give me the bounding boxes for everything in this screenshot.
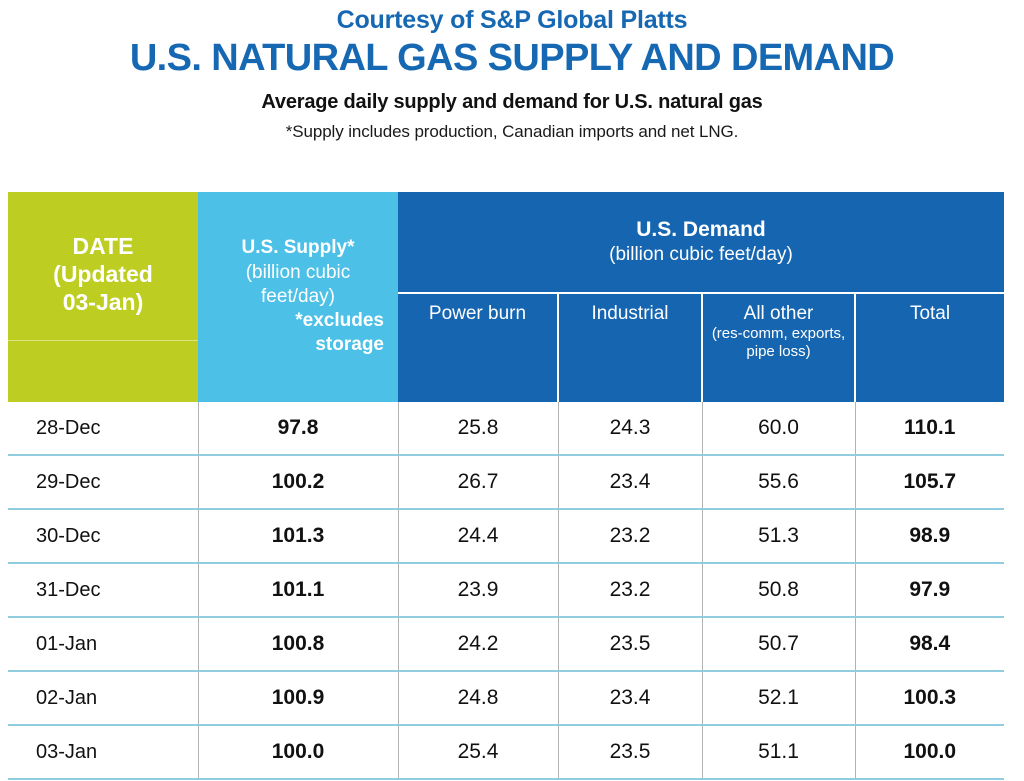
cell-supply: 101.1 [198, 563, 398, 617]
cell-all-other: 52.1 [702, 671, 855, 725]
supply-demand-table: DATE (Updated 03-Jan) U.S. Supply* (bill… [8, 192, 1004, 780]
cell-industrial: 24.3 [558, 402, 702, 455]
date-header-line1: DATE [8, 232, 198, 260]
cell-supply: 100.9 [198, 671, 398, 725]
column-header-total: Total [855, 293, 1004, 402]
cell-all-other: 60.0 [702, 402, 855, 455]
demand-header-line1: U.S. Demand [398, 216, 1004, 243]
date-header-merge-divider [8, 340, 198, 341]
cell-date: 01-Jan [8, 617, 198, 671]
supply-footnote: *Supply includes production, Canadian im… [0, 122, 1024, 142]
cell-power-burn: 24.2 [398, 617, 558, 671]
cell-industrial: 23.2 [558, 563, 702, 617]
cell-power-burn: 23.9 [398, 563, 558, 617]
cell-supply: 101.3 [198, 509, 398, 563]
cell-supply: 100.2 [198, 455, 398, 509]
cell-date: 31-Dec [8, 563, 198, 617]
cell-power-burn: 24.8 [398, 671, 558, 725]
table-row: 01-Jan100.824.223.550.798.4 [8, 617, 1004, 671]
table-row: 29-Dec100.226.723.455.6105.7 [8, 455, 1004, 509]
column-header-supply: U.S. Supply* (billion cubic feet/day) *e… [198, 192, 398, 402]
date-header-line3: 03-Jan) [8, 288, 198, 316]
cell-supply: 100.0 [198, 725, 398, 779]
cell-all-other: 50.7 [702, 617, 855, 671]
cell-power-burn: 25.8 [398, 402, 558, 455]
table-row: 02-Jan100.924.823.452.1100.3 [8, 671, 1004, 725]
cell-total: 98.9 [855, 509, 1004, 563]
table-row: 03-Jan100.025.423.551.1100.0 [8, 725, 1004, 779]
cell-date: 02-Jan [8, 671, 198, 725]
cell-all-other: 55.6 [702, 455, 855, 509]
cell-date: 28-Dec [8, 402, 198, 455]
cell-date: 30-Dec [8, 509, 198, 563]
column-header-power-burn: Power burn [398, 293, 558, 402]
all-other-detail: (res-comm, exports, pipe loss) [703, 325, 854, 360]
date-header-line2: (Updated [8, 260, 198, 288]
cell-industrial: 23.2 [558, 509, 702, 563]
cell-total: 100.3 [855, 671, 1004, 725]
cell-date: 29-Dec [8, 455, 198, 509]
cell-supply: 97.8 [198, 402, 398, 455]
cell-total: 105.7 [855, 455, 1004, 509]
table-header-row-primary: DATE (Updated 03-Jan) U.S. Supply* (bill… [8, 192, 1004, 293]
cell-date: 03-Jan [8, 725, 198, 779]
table-row: 31-Dec101.123.923.250.897.9 [8, 563, 1004, 617]
column-header-all-other: All other (res-comm, exports, pipe loss) [702, 293, 855, 402]
supply-header-line4: *excludes [212, 309, 384, 333]
page-subtitle: Average daily supply and demand for U.S.… [0, 91, 1024, 114]
page-header: Courtesy of S&P Global Platts U.S. NATUR… [0, 0, 1024, 142]
table-row: 30-Dec101.324.423.251.398.9 [8, 509, 1004, 563]
table-body: 28-Dec97.825.824.360.0110.129-Dec100.226… [8, 402, 1004, 779]
cell-total: 100.0 [855, 725, 1004, 779]
table-row: 28-Dec97.825.824.360.0110.1 [8, 402, 1004, 455]
supply-header-line3: feet/day) [212, 285, 384, 309]
supply-header-line2: (billion cubic [212, 261, 384, 285]
supply-header-line5: storage [212, 333, 384, 357]
cell-all-other: 51.1 [702, 725, 855, 779]
column-header-industrial: Industrial [558, 293, 702, 402]
page-title: U.S. NATURAL GAS SUPPLY AND DEMAND [0, 36, 1024, 81]
supply-header-line1: U.S. Supply* [212, 236, 384, 260]
cell-total: 97.9 [855, 563, 1004, 617]
all-other-label: All other [703, 302, 854, 325]
cell-power-burn: 26.7 [398, 455, 558, 509]
demand-header-line2: (billion cubic feet/day) [398, 243, 1004, 268]
cell-industrial: 23.5 [558, 725, 702, 779]
column-header-date: DATE (Updated 03-Jan) [8, 192, 198, 402]
cell-total: 110.1 [855, 402, 1004, 455]
column-header-demand-group: U.S. Demand (billion cubic feet/day) [398, 192, 1004, 293]
cell-supply: 100.8 [198, 617, 398, 671]
supply-demand-table-container: DATE (Updated 03-Jan) U.S. Supply* (bill… [8, 192, 1004, 780]
cell-industrial: 23.5 [558, 617, 702, 671]
cell-industrial: 23.4 [558, 455, 702, 509]
cell-total: 98.4 [855, 617, 1004, 671]
cell-power-burn: 24.4 [398, 509, 558, 563]
table-header: DATE (Updated 03-Jan) U.S. Supply* (bill… [8, 192, 1004, 402]
cell-industrial: 23.4 [558, 671, 702, 725]
courtesy-line: Courtesy of S&P Global Platts [0, 6, 1024, 35]
cell-all-other: 51.3 [702, 509, 855, 563]
cell-power-burn: 25.4 [398, 725, 558, 779]
cell-all-other: 50.8 [702, 563, 855, 617]
